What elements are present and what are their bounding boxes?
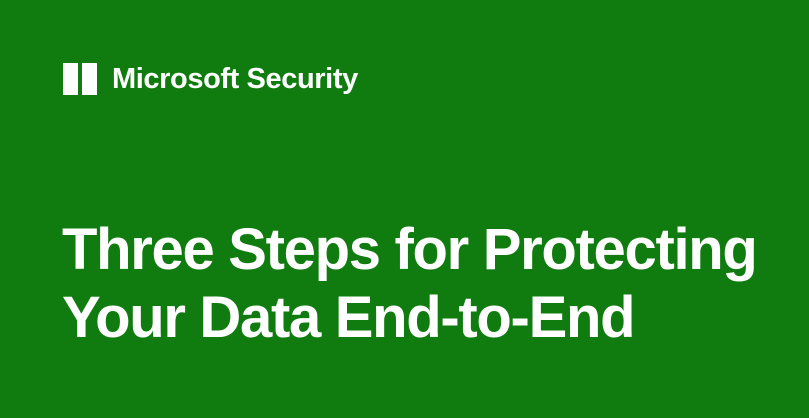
marketing-banner: Microsoft Security Three Steps for Prote… bbox=[0, 0, 809, 418]
microsoft-two-bar-logo-icon bbox=[63, 63, 99, 95]
page-title: Three Steps for Protecting Your Data End… bbox=[62, 216, 762, 352]
brand-lockup: Microsoft Security bbox=[63, 62, 358, 96]
page-title-line-2: Your Data End-to-End bbox=[62, 284, 762, 352]
brand-name: Microsoft Security bbox=[112, 63, 358, 95]
page-title-line-1: Three Steps for Protecting bbox=[62, 216, 762, 284]
